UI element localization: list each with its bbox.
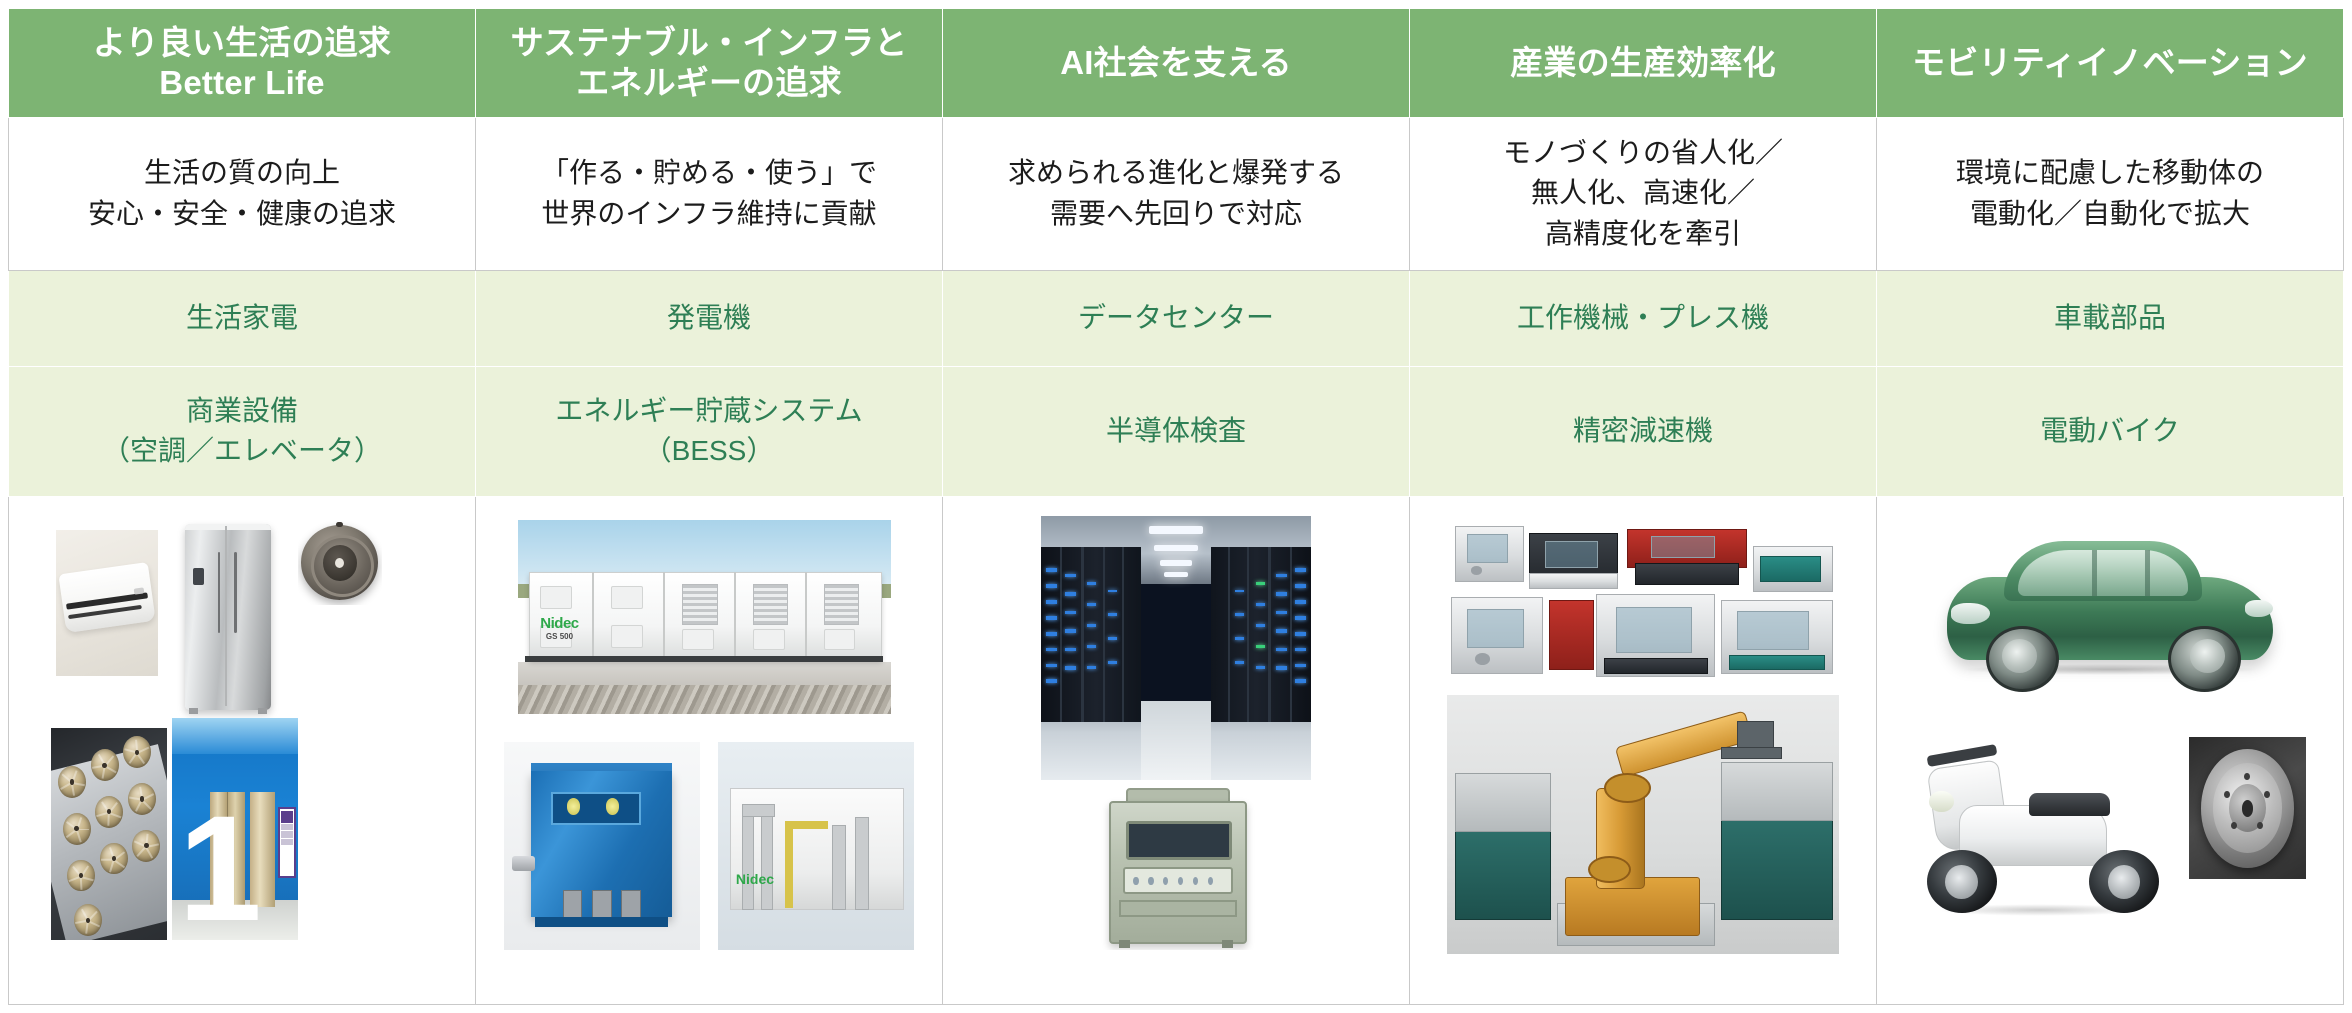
tag-cell-1-2: 発電機: [476, 270, 943, 366]
product-tag-row-1: 生活家電 発電機 データセンター 工作機械・プレス機 車載部品: [9, 270, 2344, 366]
description-text: 求められる進化と爆発する 需要へ先回りで対応: [955, 153, 1397, 234]
industrial-robot-arm-photo: [1447, 695, 1838, 955]
description-cell-2: 「作る・貯める・使う」で 世界のインフラ維持に貢献: [476, 117, 943, 270]
description-cell-1: 生活の質の向上 安心・安全・健康の追求: [9, 117, 476, 270]
brand-logo-text: NidecGS 500: [540, 615, 578, 641]
product-tag: データセンター: [955, 298, 1397, 338]
description-row: 生活の質の向上 安心・安全・健康の追求 「作る・貯める・使う」で 世界のインフラ…: [9, 117, 2344, 270]
description-text: 「作る・貯める・使う」で 世界のインフラ維持に貢献: [488, 153, 930, 234]
header-text: 産業の生産効率化: [1420, 43, 1866, 83]
power-conditioner-container-photo: Nidec: [718, 742, 914, 950]
header-text: サステナブル・インフラと エネルギーの追求: [486, 23, 932, 104]
tag-cell-1-3: データセンター: [943, 270, 1410, 366]
data-center-server-aisle-photo: [1041, 516, 1311, 780]
tag-cell-2-1: 商業設備 （空調／エレベータ）: [9, 366, 476, 496]
tag-cell-2-2: エネルギー貯蔵システム （BESS）: [476, 366, 943, 496]
photo-cell-better-life: 1: [9, 496, 476, 1004]
photo-gallery-1: 1: [9, 497, 475, 969]
semiconductor-inspection-machine-photo: [1087, 785, 1264, 950]
product-tag: エネルギー貯蔵システム （BESS）: [488, 391, 930, 471]
photo-cell-ai-society: [943, 496, 1410, 1004]
elevator-signage: [278, 807, 296, 878]
photo-gallery-5: [1877, 497, 2343, 969]
product-tag: 工作機械・プレス機: [1422, 298, 1864, 338]
product-tag: 車載部品: [1889, 298, 2331, 338]
description-text: 環境に配慮した移動体の 電動化／自動化で拡大: [1889, 153, 2331, 234]
product-tag: 半導体検査: [955, 411, 1397, 451]
product-tag: 生活家電: [21, 298, 463, 338]
description-text: 生活の質の向上 安心・安全・健康の追求: [21, 153, 463, 234]
header-row: より良い生活の追求 Better Life サステナブル・インフラと エネルギー…: [9, 9, 2344, 118]
photo-gallery-3: [943, 497, 1409, 969]
tag-cell-1-4: 工作機械・プレス機: [1410, 270, 1877, 366]
tag-cell-1-5: 車載部品: [1877, 270, 2344, 366]
brand-logo-text: Nidec: [736, 871, 774, 887]
header-cell-sustainable-infra: サステナブル・インフラと エネルギーの追求: [476, 9, 943, 118]
tag-cell-2-4: 精密減速機: [1410, 366, 1877, 496]
tag-cell-2-3: 半導体検査: [943, 366, 1410, 496]
description-cell-4: モノづくりの省人化／ 無人化、高速化／ 高精度化を牽引: [1410, 117, 1877, 270]
brake-disc-rotor-photo: [2189, 737, 2306, 879]
electric-scooter-photo: [1905, 723, 2175, 950]
slide-canvas: より良い生活の追求 Better Life サステナブル・インフラと エネルギー…: [0, 0, 2352, 1013]
product-tag: 精密減速機: [1422, 411, 1864, 451]
room-air-conditioner-photo: [56, 530, 159, 676]
refrigerator-photo: [177, 516, 280, 719]
header-text: より良い生活の追求 Better Life: [19, 23, 465, 104]
product-tag-row-2: 商業設備 （空調／エレベータ） エネルギー貯蔵システム （BESS） 半導体検査…: [9, 366, 2344, 496]
header-cell-industrial-efficiency: 産業の生産効率化: [1410, 9, 1877, 118]
photo-row: 1: [9, 496, 2344, 1004]
photo-cell-sustainable-infra: NidecGS 500: [476, 496, 943, 1004]
product-tag: 発電機: [488, 298, 930, 338]
blue-generator-photo: [504, 742, 700, 950]
header-text: モビリティイノベーション: [1887, 43, 2333, 83]
description-cell-5: 環境に配慮した移動体の 電動化／自動化で拡大: [1877, 117, 2344, 270]
header-text: AI社会を支える: [953, 43, 1399, 83]
photo-cell-industrial-efficiency: [1410, 496, 1877, 1004]
machine-tools-lineup-photo: [1447, 516, 1838, 686]
condenser-fan-array-photo: [51, 728, 168, 940]
description-text: モノづくりの省人化／ 無人化、高速化／ 高精度化を牽引: [1422, 133, 1864, 255]
robot-vacuum-cleaner-photo: [298, 520, 382, 605]
business-domain-matrix: より良い生活の追求 Better Life サステナブル・インフラと エネルギー…: [8, 8, 2344, 1005]
header-cell-ai-society: AI社会を支える: [943, 9, 1410, 118]
photo-gallery-4: [1410, 497, 1876, 969]
product-tag: 電動バイク: [1889, 411, 2331, 451]
green-electric-car-photo: [1933, 520, 2287, 709]
tag-cell-2-5: 電動バイク: [1877, 366, 2344, 496]
elevator-floor-number: 1: [178, 807, 206, 913]
photo-cell-mobility-innovation: [1877, 496, 2344, 1004]
bess-container-photo: NidecGS 500: [518, 520, 891, 714]
header-cell-better-life: より良い生活の追求 Better Life: [9, 9, 476, 118]
description-cell-3: 求められる進化と爆発する 需要へ先回りで対応: [943, 117, 1410, 270]
header-cell-mobility-innovation: モビリティイノベーション: [1877, 9, 2344, 118]
elevator-lobby-photo: 1: [172, 718, 298, 940]
tag-cell-1-1: 生活家電: [9, 270, 476, 366]
photo-gallery-2: NidecGS 500: [476, 497, 942, 969]
product-tag: 商業設備 （空調／エレベータ）: [21, 391, 463, 471]
